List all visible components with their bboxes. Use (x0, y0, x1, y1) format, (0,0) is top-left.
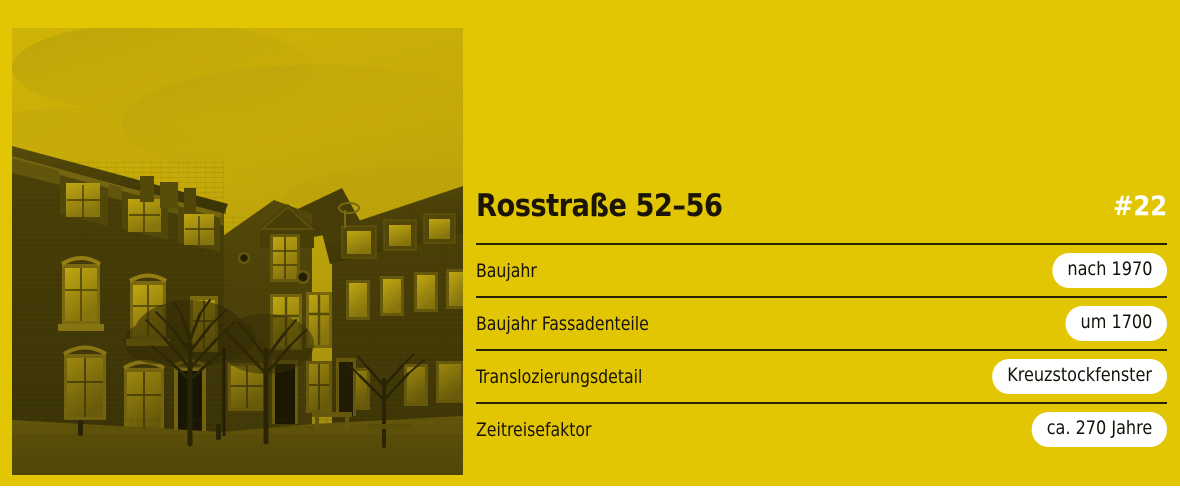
table-row: Baujahr nach 1970 (476, 243, 1167, 296)
page-title: Rosstraße 52–56 (476, 188, 722, 224)
table-row: Baujahr Fassadenteile um 1700 (476, 296, 1167, 349)
row-label-baujahr-fassadenteile: Baujahr Fassadenteile (476, 313, 649, 335)
status-badge-baujahr-fassadenteile: um 1700 (1065, 306, 1167, 341)
status-badge-translozierungsdetail: Kreuzstockfenster (992, 359, 1167, 394)
title-row: Rosstraße 52–56 #22 (476, 183, 1167, 229)
row-label-zeitreisefaktor: Zeitreisefaktor (476, 419, 592, 441)
status-badge-zeitreisefaktor: ca. 270 Jahre (1031, 412, 1167, 447)
info-card: Rosstraße 52–56 #22 Baujahr nach 1970 Ba… (0, 0, 1180, 486)
status-badge-baujahr: nach 1970 (1052, 253, 1167, 288)
entry-number-badge: #22 (1113, 191, 1167, 222)
row-label-baujahr: Baujahr (476, 260, 537, 282)
building-photo (12, 28, 463, 475)
info-panel: Rosstraße 52–56 #22 Baujahr nach 1970 Ba… (476, 0, 1167, 486)
row-label-translozierungsdetail: Translozierungsdetail (476, 366, 642, 388)
bottom-white-strip (0, 486, 1180, 500)
table-row: Translozierungsdetail Kreuzstockfenster (476, 349, 1167, 402)
table-row: Zeitreisefaktor ca. 270 Jahre (476, 402, 1167, 455)
attribute-table: Baujahr nach 1970 Baujahr Fassadenteile … (476, 243, 1167, 455)
building-photo-illustration (12, 28, 463, 475)
